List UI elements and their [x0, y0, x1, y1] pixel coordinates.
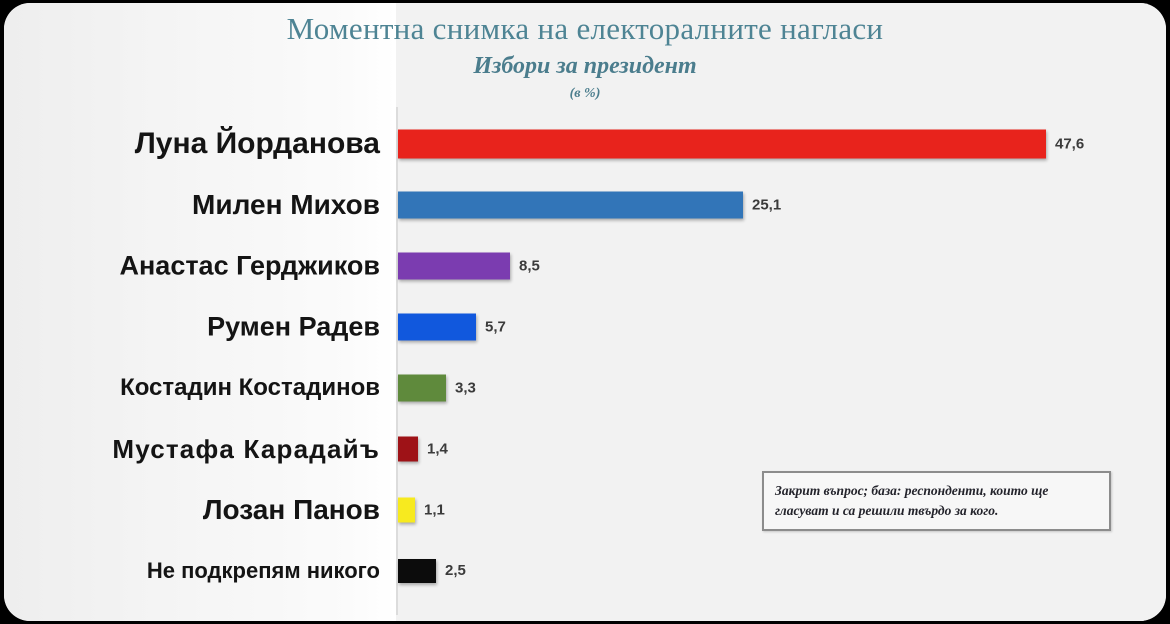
bar[interactable]	[398, 252, 510, 279]
chart-screenshot: Моментна снимка на електоралните нагласи…	[0, 0, 1170, 624]
chart-panel: Моментна снимка на електоралните нагласи…	[4, 3, 1166, 621]
category-label: Милен Михов	[192, 191, 380, 219]
bar[interactable]	[398, 559, 436, 583]
bar-row[interactable]: Не подкрепям никого 2,5	[4, 540, 1166, 601]
bar-row[interactable]: Мустафа Карадайъ 1,4	[4, 418, 1166, 479]
category-label: Луна Йорданова	[135, 129, 380, 159]
footnote-box: Закрит въпрос; база: респонденти, които …	[762, 471, 1111, 531]
category-label: Мустафа Карадайъ	[112, 436, 380, 462]
bar[interactable]	[398, 374, 446, 401]
bar-value-label: 3,3	[455, 379, 476, 396]
bar-value-label: 25,1	[752, 196, 781, 213]
bar-group: 3,3	[398, 374, 476, 401]
bar-group: 25,1	[398, 191, 781, 218]
bar-group: 1,1	[398, 497, 445, 522]
bar-row[interactable]: Луна Йорданова 47,6	[4, 113, 1166, 174]
category-label: Не подкрепям никого	[147, 560, 380, 582]
bar-value-label: 1,4	[427, 440, 448, 457]
bar[interactable]	[398, 191, 743, 218]
bar-row[interactable]: Костадин Костадинов 3,3	[4, 357, 1166, 418]
bar[interactable]	[398, 313, 476, 340]
bar-group: 47,6	[398, 129, 1084, 158]
bar-value-label: 1,1	[424, 501, 445, 518]
bar-group: 1,4	[398, 436, 448, 461]
bar-value-label: 47,6	[1055, 135, 1084, 152]
chart-subtitle: Избори за президент	[4, 53, 1166, 80]
bar-value-label: 5,7	[485, 318, 506, 335]
bar[interactable]	[398, 129, 1046, 158]
bar-row[interactable]: Румен Радев 5,7	[4, 296, 1166, 357]
bar-group: 8,5	[398, 252, 540, 279]
category-label: Анастас Герджиков	[120, 252, 381, 279]
bar-row[interactable]: Анастас Герджиков 8,5	[4, 235, 1166, 296]
bar[interactable]	[398, 497, 415, 522]
bar-group: 2,5	[398, 559, 466, 583]
category-label: Костадин Костадинов	[120, 376, 380, 400]
bar-row[interactable]: Милен Михов 25,1	[4, 174, 1166, 235]
bar[interactable]	[398, 436, 418, 461]
bar-group: 5,7	[398, 313, 506, 340]
bar-value-label: 8,5	[519, 257, 540, 274]
category-label: Лозан Панов	[203, 496, 380, 524]
bar-value-label: 2,5	[445, 562, 466, 579]
page-title: Моментна снимка на електоралните нагласи	[4, 11, 1166, 47]
chart-units-label: (в %)	[4, 86, 1166, 102]
category-label: Румен Радев	[207, 313, 380, 340]
